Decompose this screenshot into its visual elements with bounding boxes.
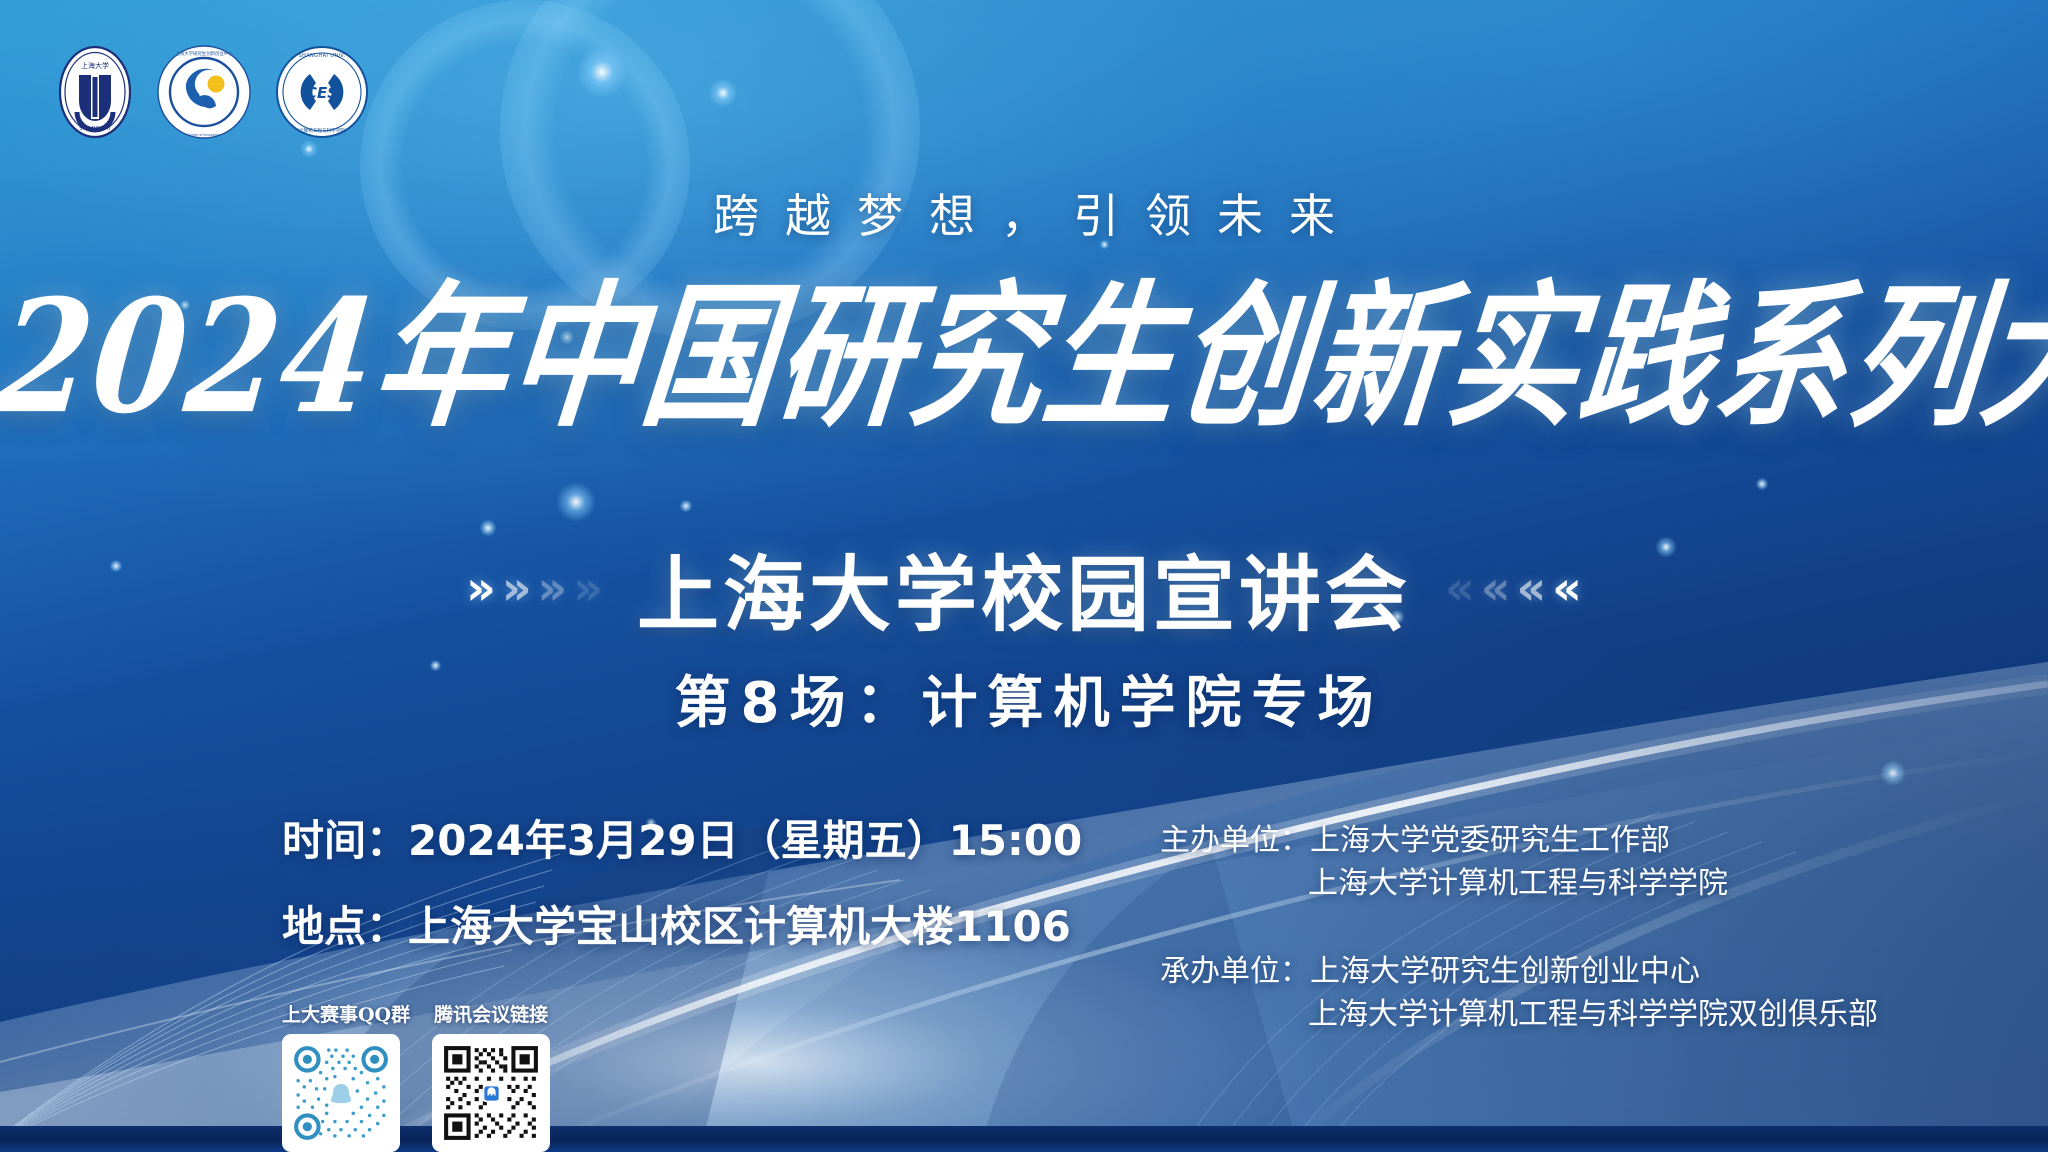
- host-line-2: 上海大学计算机工程与科学学院: [1160, 863, 1878, 906]
- innovation-center-logo: 上海大学研究生创新创业中心 Center of Innovation: [156, 44, 252, 140]
- bokeh-dot: [300, 140, 318, 158]
- bokeh-dot: [576, 46, 628, 98]
- qr-item-tencent-meeting: 腾讯会议链接: [432, 1000, 550, 1152]
- qr-caption-qq-group: 上大赛事QQ群: [282, 1000, 410, 1027]
- logo-group: 上海大学 SHANGHAI 上海大学研究生创新创业中心 Center of In…: [56, 44, 370, 140]
- svg-text:Center of Innovation: Center of Innovation: [188, 133, 221, 137]
- host-block: 主办单位：上海大学党委研究生工作部 上海大学计算机工程与科学学院: [1160, 820, 1878, 905]
- event-details: 时间：2024年3月29日（星期五）15:00 地点：上海大学宝山校区计算机大楼…: [282, 820, 1082, 992]
- chevron-left-icon: «: [1445, 565, 1475, 611]
- bokeh-dot: [556, 482, 596, 522]
- bokeh-dot: [1880, 760, 1906, 786]
- svg-text:计算机工程与科学学院: 计算机工程与科学学院: [299, 127, 345, 134]
- chevron-left-icon: «: [1516, 565, 1546, 611]
- qr-code-group: 上大赛事QQ群: [282, 1000, 550, 1152]
- chevron-left-icon: «: [1481, 565, 1511, 611]
- organizer-line-2: 上海大学计算机工程与科学学院双创俱乐部: [1160, 994, 1878, 1037]
- svg-text:上海大学: 上海大学: [81, 61, 109, 70]
- poster-tagline: 跨越梦想，引领未来: [0, 180, 2048, 246]
- poster-subtitle: 上海大学校园宣讲会: [637, 528, 1411, 647]
- svg-text:SHANGHAI: SHANGHAI: [79, 126, 111, 132]
- chevron-left-icon: «: [1552, 565, 1582, 611]
- main-title: 2024年中国研究生创新实践系列大赛: [0, 275, 2048, 440]
- svg-text:CES: CES: [306, 84, 338, 102]
- chevron-right-icon: »: [466, 565, 496, 611]
- chevron-right-icon: »: [538, 565, 568, 611]
- bokeh-dot: [680, 500, 692, 512]
- bokeh-dot: [1756, 478, 1768, 490]
- qr-qq-graphic: [290, 1042, 392, 1144]
- chevron-right-decoration: » » » »: [466, 565, 603, 611]
- organizer-info: 主办单位：上海大学党委研究生工作部 上海大学计算机工程与科学学院 承办单位：上海…: [1160, 820, 1878, 1082]
- organizer-line-1: 承办单位：上海大学研究生创新创业中心: [1160, 951, 1878, 994]
- session-title: 第8场：计算机学院专场: [0, 658, 2048, 739]
- event-time: 时间：2024年3月29日（星期五）15:00: [282, 820, 1082, 862]
- event-place: 地点：上海大学宝山校区计算机大楼1106: [282, 906, 1082, 948]
- qr-code-tencent-meeting[interactable]: [432, 1034, 550, 1152]
- qr-caption-tencent-meeting: 腾讯会议链接: [434, 1000, 548, 1027]
- chevron-right-icon: »: [502, 565, 532, 611]
- qr-tencent-graphic: [440, 1042, 542, 1144]
- chevron-right-icon: »: [573, 565, 603, 611]
- computer-engineering-science-logo: CES SHANGHAI UNIV. 计算机工程与科学学院: [274, 44, 370, 140]
- poster-canvas: 上海大学 SHANGHAI 上海大学研究生创新创业中心 Center of In…: [0, 0, 2048, 1152]
- chevron-left-decoration: « « « «: [1445, 565, 1582, 611]
- qr-code-qq-group[interactable]: [282, 1034, 400, 1152]
- shanghai-university-logo: 上海大学 SHANGHAI: [56, 44, 134, 140]
- qr-item-qq-group: 上大赛事QQ群: [282, 1000, 410, 1152]
- bokeh-dot: [708, 78, 738, 108]
- organizer-block: 承办单位：上海大学研究生创新创业中心 上海大学计算机工程与科学学院双创俱乐部: [1160, 951, 1878, 1036]
- svg-text:SHANGHAI UNIV.: SHANGHAI UNIV.: [298, 53, 345, 59]
- subtitle-row: » » » » 上海大学校园宣讲会 « « « «: [0, 528, 2048, 647]
- svg-text:上海大学研究生创新创业中心: 上海大学研究生创新创业中心: [175, 50, 233, 57]
- host-line-1: 主办单位：上海大学党委研究生工作部: [1160, 820, 1878, 863]
